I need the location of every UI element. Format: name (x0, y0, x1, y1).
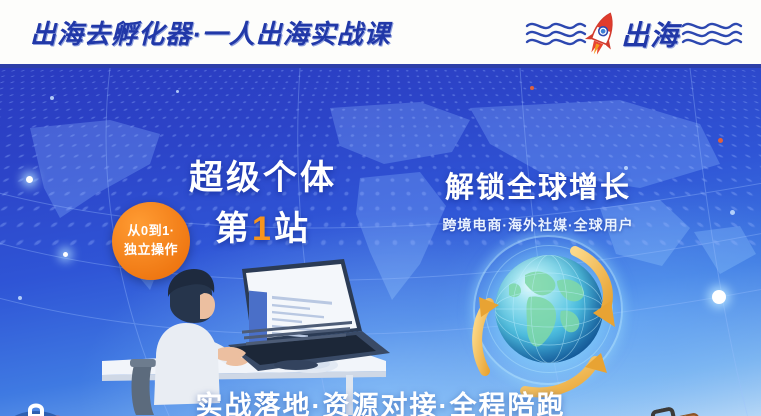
laptop-icon (228, 259, 390, 371)
wave-icon (525, 17, 587, 51)
compass-icon (0, 402, 96, 416)
star-dot (50, 96, 54, 100)
brand-name: 出海 (621, 14, 679, 54)
right-headline: 解锁全球增长 (398, 164, 678, 206)
hero-stage: 超级个体 第1站 从0到1· 独立操作 解锁全球增长 跨境电商·海外社媒·全球用… (0, 68, 761, 416)
left-headline-primary: 超级个体 (148, 160, 378, 197)
star-dot (530, 86, 534, 90)
right-subheadline: 跨境电商·海外社媒·全球用户 (398, 215, 678, 235)
star-dot (718, 138, 723, 143)
left-headline-number: 1 (252, 210, 274, 248)
star-dot (730, 210, 735, 215)
badge-line-1: 从0到1· (127, 222, 174, 241)
left-headline-suffix: 站 (274, 210, 311, 248)
glow-node (26, 176, 33, 183)
page-title: 出海去孵化器·一人出海实战课 (30, 14, 391, 51)
header-bar: 出海去孵化器·一人出海实战课 (0, 0, 761, 68)
right-headline-group: 解锁全球增长 跨境电商·海外社媒·全球用户 (398, 164, 678, 235)
rocket-icon (583, 10, 621, 58)
poster-banner: 出海去孵化器·一人出海实战课 (0, 0, 761, 416)
glow-node (63, 252, 68, 257)
brand-logo: 出海 (525, 6, 743, 62)
glow-node (712, 290, 726, 304)
wave-icon (681, 17, 743, 51)
star-dot (18, 296, 22, 300)
left-headline-prefix: 第 (215, 210, 252, 248)
star-dot (176, 90, 179, 93)
